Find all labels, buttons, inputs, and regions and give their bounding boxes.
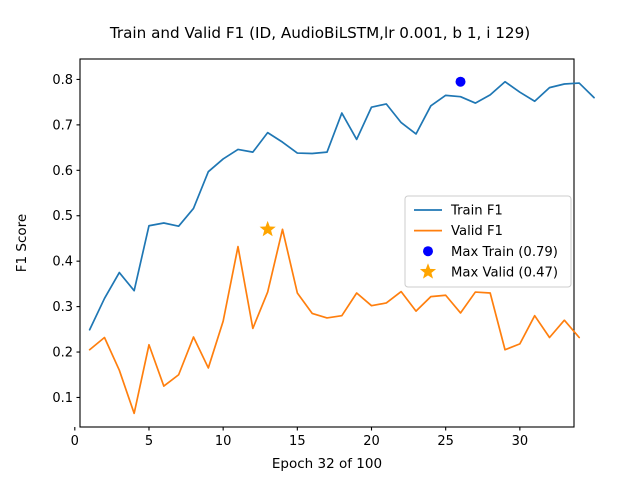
y-tick-label: 0.4 (52, 255, 73, 270)
y-tick-label: 0.1 (52, 391, 73, 406)
marker-star-max-valid-0-47 (260, 221, 276, 236)
y-tick-label: 0.5 (52, 209, 73, 224)
legend-label: Max Valid (0.47) (451, 265, 558, 280)
x-tick-label: 10 (215, 434, 232, 449)
x-tick-label: 15 (289, 434, 306, 449)
x-tick-label: 30 (512, 434, 529, 449)
legend-label: Max Train (0.79) (451, 245, 558, 260)
y-tick-label: 0.2 (52, 346, 73, 361)
legend-label: Train F1 (450, 204, 503, 219)
x-axis-label: Epoch 32 of 100 (272, 456, 382, 472)
x-tick-label: 25 (437, 434, 454, 449)
x-tick-label: 5 (145, 434, 153, 449)
y-axis-label: F1 Score (14, 214, 30, 272)
y-tick-label: 0.7 (52, 118, 73, 133)
x-tick-label: 0 (71, 434, 79, 449)
x-tick-label: 20 (363, 434, 380, 449)
marker-circle-max-train-0-79 (456, 77, 466, 87)
y-tick-label: 0.6 (52, 164, 73, 179)
chart-plot-area: 0510152025300.10.20.30.40.50.60.70.8Epoc… (0, 0, 640, 480)
y-tick-label: 0.8 (52, 73, 73, 88)
chart-figure: Train and Valid F1 (ID, AudioBiLSTM,lr 0… (0, 0, 640, 480)
legend-label: Valid F1 (451, 224, 503, 239)
legend-glyph-circle-icon (423, 246, 433, 256)
y-tick-label: 0.3 (52, 300, 73, 315)
